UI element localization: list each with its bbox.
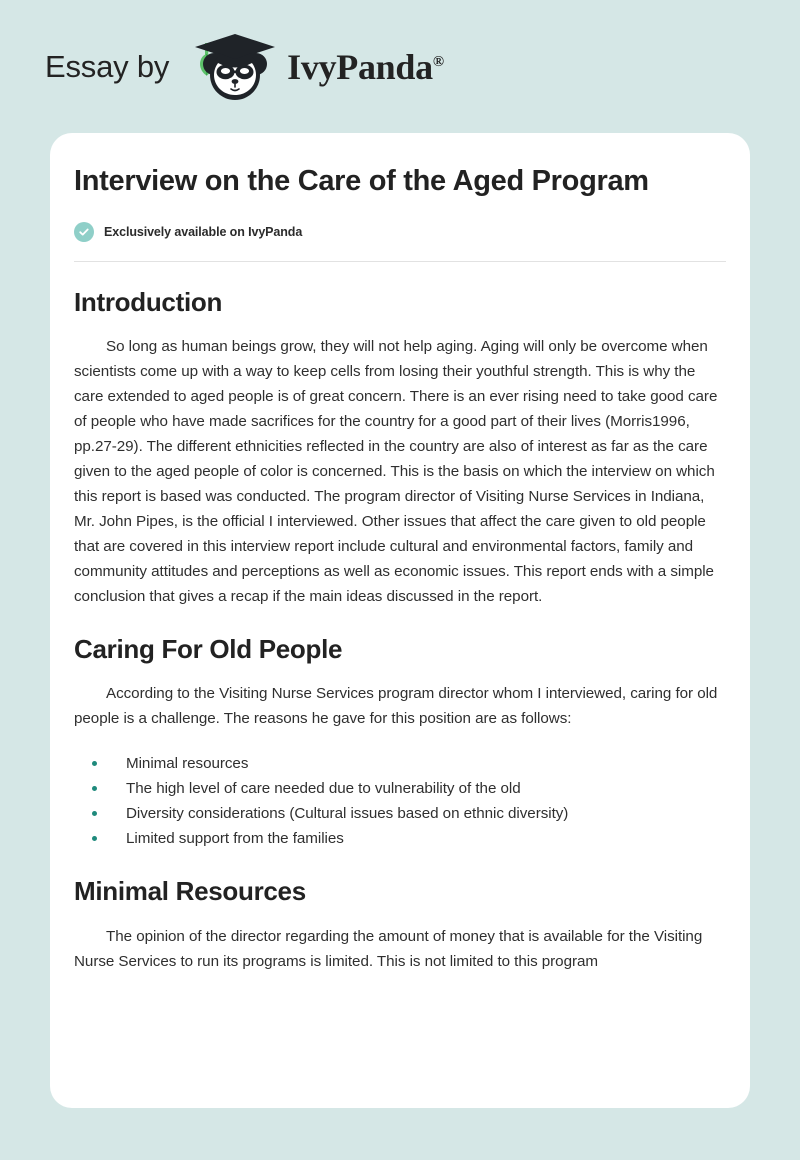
brand-name-text: IvyPanda: [287, 47, 433, 87]
section-paragraph: The opinion of the director regarding th…: [74, 924, 726, 974]
exclusive-badge: Exclusively available on IvyPanda: [74, 222, 726, 242]
check-circle-icon: [74, 222, 94, 242]
panda-graduation-cap-icon: [187, 28, 283, 106]
registered-mark: ®: [433, 54, 444, 70]
brand-wordmark: IvyPanda®: [287, 49, 444, 85]
title-divider: [74, 261, 726, 262]
section-heading-minimal-resources: Minimal Resources: [74, 876, 726, 907]
list-item: The high level of care needed due to vul…: [74, 776, 726, 801]
reasons-bullet-list: Minimal resources The high level of care…: [74, 751, 726, 851]
section-heading-caring-for-old-people: Caring For Old People: [74, 634, 726, 665]
essay-by-label: Essay by: [45, 49, 169, 85]
section-paragraph: So long as human beings grow, they will …: [74, 334, 726, 609]
section-paragraph: According to the Visiting Nurse Services…: [74, 681, 726, 731]
ivypanda-logo[interactable]: IvyPanda®: [187, 28, 444, 106]
exclusive-badge-label: Exclusively available on IvyPanda: [104, 225, 302, 239]
list-item: Limited support from the families: [74, 826, 726, 851]
essay-card: Interview on the Care of the Aged Progra…: [50, 133, 750, 1108]
list-item: Minimal resources: [74, 751, 726, 776]
page-title: Interview on the Care of the Aged Progra…: [74, 163, 674, 200]
brand-header: Essay by: [0, 0, 800, 133]
section-heading-introduction: Introduction: [74, 287, 726, 318]
list-item: Diversity considerations (Cultural issue…: [74, 801, 726, 826]
